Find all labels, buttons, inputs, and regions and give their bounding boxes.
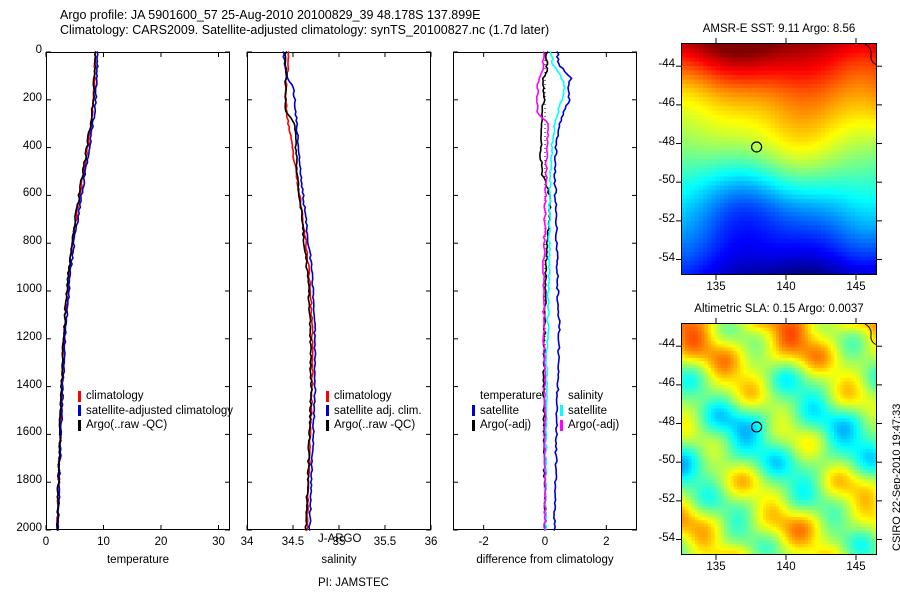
sst-map-panel: AMSR-E SST: 9.11 Argo: 8.56-44-46-48-50-…: [0, 0, 900, 580]
legend-item: climatology: [326, 389, 422, 404]
coastline: [865, 44, 877, 65]
depth-tick-label: 0: [2, 44, 42, 56]
depth-tick-label: 2000: [2, 522, 42, 534]
profile-location-marker[interactable]: [752, 422, 762, 432]
legend-item: Argo(..raw -QC): [326, 418, 422, 433]
legend-color-swatch: [472, 405, 475, 416]
altimetric-sla-map-lon-tick-label: 135: [691, 561, 741, 573]
temperature-profile-x-tick-label: 0: [16, 536, 76, 548]
legend-label: Argo(-adj): [568, 418, 619, 433]
altimetric-sla-map-lat-tick-label: -54: [639, 532, 675, 544]
legend-column: salinitysatelliteArgo(-adj): [560, 389, 619, 433]
temperature-profile-x-axis-label: temperature: [46, 554, 230, 566]
legend-item: Argo(..raw -QC): [78, 418, 233, 433]
depth-tick-label: 400: [2, 140, 42, 152]
depth-tick-label: 1000: [2, 283, 42, 295]
difference-from-climatology-canvas: [0, 0, 900, 580]
legend-label: satellite-adjusted climatology: [86, 404, 233, 419]
difference-from-climatology-legend: temperaturesatelliteArgo(-adj)salinitysa…: [472, 389, 619, 433]
difference-from-climatology-x-tick-label: 2: [576, 536, 636, 548]
altimetric-sla-map-lat-tick-label: -50: [639, 454, 675, 466]
series-temperature-argo-adj-: [540, 52, 551, 530]
temperature-profile-x-tick-label: 10: [74, 536, 134, 548]
legend-label: Argo(..raw -QC): [86, 418, 167, 433]
figure-title-line2: Climatology: CARS2009. Satellite-adjuste…: [60, 23, 549, 37]
series-climatology: [285, 52, 313, 530]
salinity-profile-x-tick-label: 36: [401, 536, 461, 548]
amsre-sst-map-title: AMSR-E SST: 9.11 Argo: 8.56: [621, 23, 900, 35]
legend-item: climatology: [78, 389, 233, 404]
altimetric-sla-map-lon-tick-label: 140: [761, 561, 811, 573]
legend-column-header: temperature: [480, 389, 542, 404]
figure-title: Argo profile: JA 5901600_57 25-Aug-2010 …: [60, 8, 640, 38]
legend-label: climatology: [86, 389, 144, 404]
legend-item: satellite: [472, 404, 542, 419]
credit-line-2: PI: JAMSTEC: [318, 576, 389, 591]
amsre-sst-map-lat-tick-label: -44: [639, 58, 675, 70]
amsre-sst-map-lat-tick-label: -54: [639, 252, 675, 264]
series-argo-raw-qc-: [285, 52, 312, 530]
salinity-profile-canvas: [0, 0, 900, 580]
salinity-profile-plot-box: [247, 52, 431, 530]
amsre-sst-map-lat-tick-label: -46: [639, 97, 675, 109]
csiro-timestamp: CSIRO 22-Sep-2010 19:47:33: [891, 404, 900, 551]
altimetric-sla-map-title: Altimetric SLA: 0.15 Argo: 0.0037: [621, 303, 900, 315]
legend-column-header: salinity: [568, 389, 619, 404]
series-climatology: [57, 52, 96, 530]
salinity-profile-legend: climatologysatellite adj. clim.Argo(..ra…: [326, 389, 422, 433]
depth-tick-label: 1600: [2, 426, 42, 438]
legend-color-swatch: [326, 391, 329, 402]
coastline: [865, 324, 877, 345]
amsre-sst-map-field: [681, 43, 877, 275]
temperature-profile-legend: climatologysatellite-adjusted climatolog…: [78, 389, 233, 433]
altimetric-sla-map-lat-tick-label: -44: [639, 338, 675, 350]
legend-column: temperaturesatelliteArgo(-adj): [472, 389, 542, 433]
amsre-sst-map-lon-tick-label: 145: [831, 281, 881, 293]
amsre-sst-map-lon-tick-label: 135: [691, 281, 741, 293]
legend-color-swatch: [326, 420, 329, 431]
legend-label: satellite adj. clim.: [334, 404, 422, 419]
altimetric-sla-map-lat-tick-label: -52: [639, 493, 675, 505]
legend-color-swatch: [78, 405, 81, 416]
legend-label: climatology: [334, 389, 392, 404]
legend-color-swatch: [78, 391, 81, 402]
depth-tick-label: 1200: [2, 331, 42, 343]
altimetric-sla-map-axes: [0, 0, 900, 580]
series-satellite-adj-clim-: [283, 52, 316, 530]
depth-tick-label: 1800: [2, 474, 42, 486]
legend-item: Argo(-adj): [560, 418, 619, 433]
series-salinity-satellite: [545, 52, 565, 530]
difference-panel: -202difference from climatologytemperatu…: [0, 0, 900, 580]
sla-map-panel: Altimetric SLA: 0.15 Argo: 0.0037-44-46-…: [0, 0, 900, 580]
temperature-profile-x-tick-label: 30: [189, 536, 249, 548]
series-temperature-satellite: [554, 52, 572, 530]
amsre-sst-map-axes: [0, 0, 900, 580]
legend-label: satellite: [568, 404, 607, 419]
altimetric-sla-map-lat-tick-label: -48: [639, 416, 675, 428]
temperature-profile-x-tick-label: 20: [131, 536, 191, 548]
series-salinity-argo-adj-: [537, 52, 549, 530]
series-satellite-adjusted-climatology: [58, 52, 99, 530]
legend-label: Argo(-adj): [480, 418, 531, 433]
legend-label: satellite: [480, 404, 519, 419]
difference-from-climatology-x-tick-label: -2: [454, 536, 514, 548]
temperature-panel: 0200400600800100012001400160018002000010…: [0, 0, 900, 580]
difference-from-climatology-x-tick-label: 0: [515, 536, 575, 548]
depth-tick-label: 800: [2, 235, 42, 247]
altimetric-sla-map-lon-tick-label: 145: [831, 561, 881, 573]
legend-label: Argo(..raw -QC): [334, 418, 415, 433]
temperature-profile-plot-box: [46, 52, 230, 530]
altimetric-sla-map-field: [681, 323, 877, 555]
legend-item: satellite-adjusted climatology: [78, 404, 233, 419]
profile-location-marker[interactable]: [752, 142, 762, 152]
temperature-profile-canvas: [0, 0, 900, 580]
amsre-sst-map-lon-tick-label: 140: [761, 281, 811, 293]
legend-item: satellite adj. clim.: [326, 404, 422, 419]
series-argo-raw-qc-: [57, 52, 96, 530]
legend-item: satellite: [560, 404, 619, 419]
legend-item: Argo(-adj): [472, 418, 542, 433]
depth-tick-label: 1400: [2, 379, 42, 391]
salinity-profile-x-tick-label: 34: [217, 536, 277, 548]
legend-color-swatch: [78, 420, 81, 431]
depth-tick-label: 200: [2, 92, 42, 104]
difference-from-climatology-x-axis-label: difference from climatology: [453, 554, 637, 566]
data-centre-credit: J-ARGO PI: JAMSTEC: [318, 503, 389, 605]
figure-title-line1: Argo profile: JA 5901600_57 25-Aug-2010 …: [60, 8, 481, 22]
amsre-sst-map-lat-tick-label: -52: [639, 213, 675, 225]
legend-color-swatch: [472, 420, 475, 431]
amsre-sst-map-lat-tick-label: -50: [639, 174, 675, 186]
amsre-sst-map-lat-tick-label: -48: [639, 136, 675, 148]
salinity-profile-x-tick-label: 34.5: [263, 536, 323, 548]
difference-from-climatology-plot-box: [453, 52, 637, 530]
legend-color-swatch: [560, 405, 563, 416]
altimetric-sla-map-lat-tick-label: -46: [639, 377, 675, 389]
salinity-panel: 3434.53535.536salinityclimatologysatelli…: [0, 0, 900, 580]
credit-line-1: J-ARGO: [318, 532, 389, 547]
legend-color-swatch: [326, 405, 329, 416]
depth-tick-label: 600: [2, 187, 42, 199]
legend-color-swatch: [560, 420, 563, 431]
